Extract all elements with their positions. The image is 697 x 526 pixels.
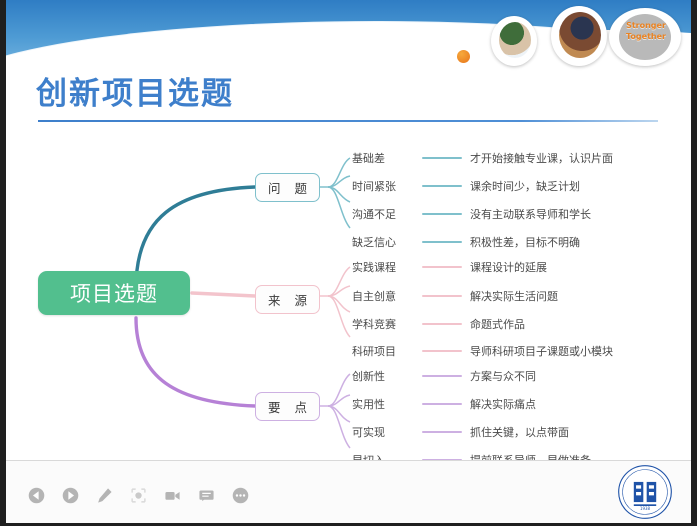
leaf-dash (422, 185, 462, 187)
leaf-key: 沟通不足 (352, 206, 414, 222)
leaf-dash (422, 266, 462, 268)
leaf-value: 才开始接触专业课，认识片面 (470, 150, 613, 166)
spotlight-icon[interactable] (130, 487, 147, 504)
branch-node-points[interactable]: 要 点 (255, 392, 320, 421)
leaf-row: 缺乏信心 积极性差，目标不明确 (352, 234, 580, 250)
title-underline (38, 120, 658, 122)
leaf-key: 时间紧张 (352, 178, 414, 194)
leaf-row: 可实现 抓住关键，以点带面 (352, 424, 569, 440)
leaf-value: 导师科研项目子课题或小模块 (470, 343, 613, 359)
leaf-row: 沟通不足 没有主动联系导师和学长 (352, 206, 591, 222)
toolbar-icons (28, 487, 249, 504)
leaf-dash (422, 431, 462, 433)
branch-curve-points (136, 318, 255, 406)
leaf-key: 实践课程 (352, 259, 414, 275)
tagline-line-1: Stronger (619, 20, 673, 31)
leaf-dash (422, 295, 462, 297)
annotation-icon[interactable] (198, 487, 215, 504)
leaf-value: 没有主动联系导师和学长 (470, 206, 591, 222)
leaf-key: 早切入 (352, 452, 414, 460)
leaf-dash (422, 375, 462, 377)
leaf-dash (422, 323, 462, 325)
leaf-value: 提前联系导师，早做准备 (470, 452, 591, 460)
leaf-value: 课程设计的延展 (470, 259, 547, 275)
leaf-value: 方案与众不同 (470, 368, 536, 384)
leaf-key: 可实现 (352, 424, 414, 440)
photo-image-2 (559, 12, 601, 58)
slide-viewer: Stronger Together 创新项目选题 (0, 0, 697, 526)
leaf-key: 自主创意 (352, 288, 414, 304)
leaf-key: 基础差 (352, 150, 414, 166)
tagline-text: Stronger Together (619, 20, 673, 42)
mindmap-center-node[interactable]: 项目选题 (38, 271, 190, 315)
leaf-key: 学科竞赛 (352, 316, 414, 332)
header-decoration: Stronger Together (423, 2, 685, 74)
previous-icon[interactable] (28, 487, 45, 504)
leaf-row: 基础差 才开始接触专业课，认识片面 (352, 150, 613, 166)
leaf-row: 时间紧张 课余时间少，缺乏计划 (352, 178, 580, 194)
page-title: 创新项目选题 (36, 68, 234, 113)
leaf-row: 自主创意 解决实际生活问题 (352, 288, 558, 304)
leaf-row: 科研项目 导师科研项目子课题或小模块 (352, 343, 613, 359)
tagline-line-2: Together (619, 31, 673, 42)
leaf-row: 学科竞赛 命题式作品 (352, 316, 525, 332)
photo-image-1 (499, 22, 531, 58)
leaf-key: 实用性 (352, 396, 414, 412)
leaf-row: 创新性 方案与众不同 (352, 368, 536, 384)
emblem-year: 1938 (640, 506, 650, 511)
pen-icon[interactable] (96, 487, 113, 504)
leaf-key: 创新性 (352, 368, 414, 384)
leaf-value: 积极性差，目标不明确 (470, 234, 580, 250)
bottom-toolbar: 1938 (6, 460, 691, 523)
leaf-value: 解决实际痛点 (470, 396, 536, 412)
leaf-dash (422, 241, 462, 243)
leaf-value: 课余时间少，缺乏计划 (470, 178, 580, 194)
leaf-dash (422, 403, 462, 405)
branch-curve-source (192, 293, 255, 296)
next-icon[interactable] (62, 487, 79, 504)
mindmap: 项目选题 问 题 来 源 要 点 基础差 才开始接触专业课，认识片面 时间紧张 … (6, 128, 691, 458)
leaf-row: 早切入 提前联系导师，早做准备 (352, 452, 591, 460)
branch-node-source[interactable]: 来 源 (255, 285, 320, 314)
leaf-row: 实践课程 课程设计的延展 (352, 259, 547, 275)
leaf-value: 命题式作品 (470, 316, 525, 332)
leaf-value: 解决实际生活问题 (470, 288, 558, 304)
leaf-row: 实用性 解决实际痛点 (352, 396, 536, 412)
record-icon[interactable] (164, 487, 181, 504)
branch-node-problem[interactable]: 问 题 (255, 173, 320, 202)
slide-canvas: Stronger Together 创新项目选题 (6, 0, 691, 460)
leaf-dash (422, 350, 462, 352)
leaf-key: 科研项目 (352, 343, 414, 359)
leaf-value: 抓住关键，以点带面 (470, 424, 569, 440)
orange-dot-icon (457, 50, 470, 63)
leaf-dash (422, 213, 462, 215)
leaf-dash (422, 157, 462, 159)
more-icon[interactable] (232, 487, 249, 504)
university-emblem-logo: 1938 (617, 464, 673, 520)
leaf-key: 缺乏信心 (352, 234, 414, 250)
